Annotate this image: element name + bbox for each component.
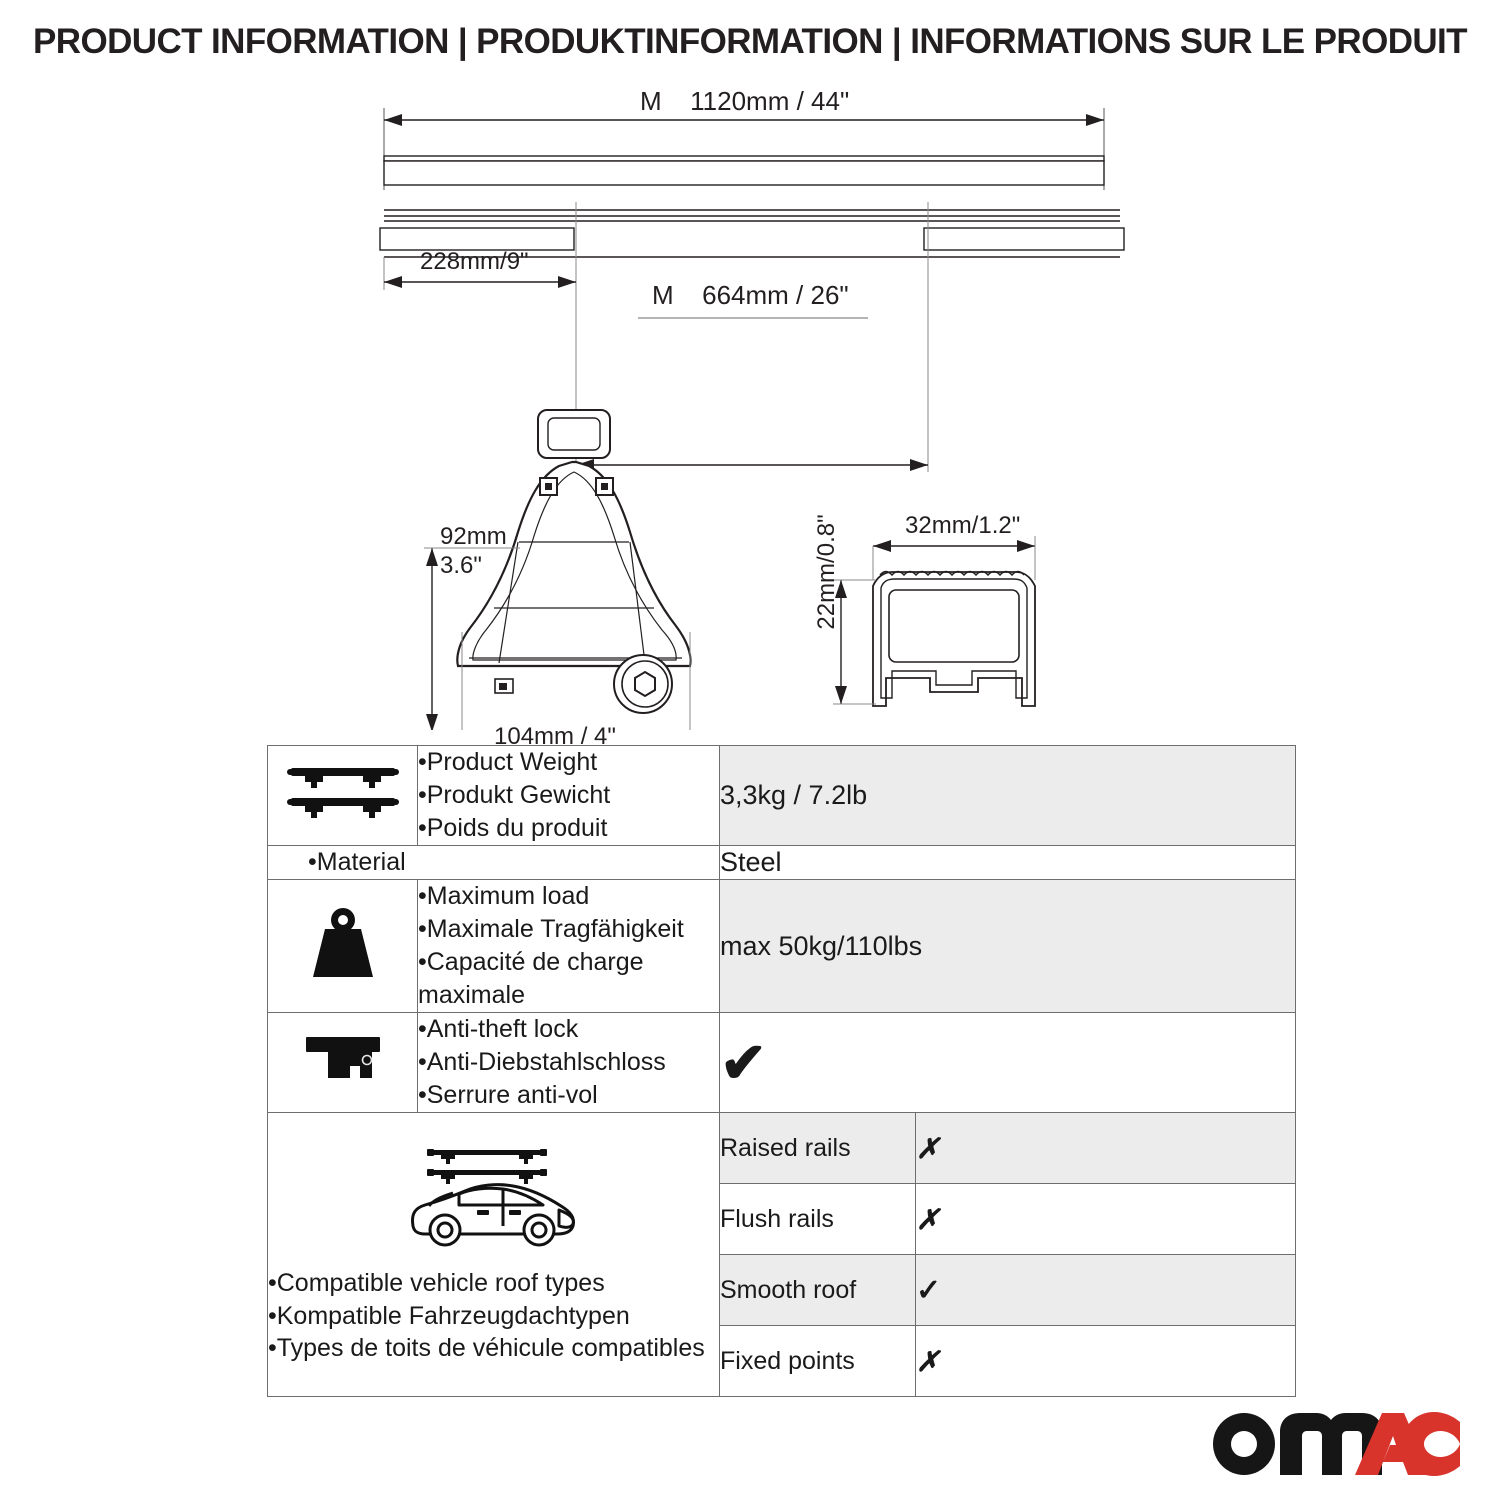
table-row: •Material Steel xyxy=(268,846,1296,880)
roof-bars-icon-cell xyxy=(268,746,418,846)
compatible-roof-types-labels: •Compatible vehicle roof types •Kompatib… xyxy=(268,1267,719,1365)
dimension-foot-height-mm: 92mm xyxy=(440,522,507,551)
dimension-foot-height: 92mm 3.6" xyxy=(440,522,507,581)
page-title: PRODUCT INFORMATION | PRODUKTINFORMATION… xyxy=(0,22,1500,62)
technical-drawing: M 1120mm / 44" 228mm/9" M 664mm / 26" 92… xyxy=(0,80,1500,730)
omac-logo xyxy=(1210,1410,1460,1478)
label-line-fr: •Serrure anti-vol xyxy=(418,1079,719,1112)
car-with-roof-bars-icon xyxy=(399,1144,589,1256)
dimension-value: 1120mm / 44" xyxy=(690,86,849,116)
anti-theft-lock-value: ✔ xyxy=(720,1013,1296,1113)
specifications-table: •Product Weight •Produkt Gewicht •Poids … xyxy=(267,745,1296,1397)
table-row: •Product Weight •Produkt Gewicht •Poids … xyxy=(268,746,1296,846)
label-line-de: •Maximale Tragfähigkeit xyxy=(418,913,719,946)
car-icon-wrap xyxy=(268,1144,719,1267)
lock-icon-cell xyxy=(268,1013,418,1113)
dimension-prefix-m: M xyxy=(640,86,662,116)
dimension-end-offset: 228mm/9" xyxy=(420,248,529,276)
roof-type-name-smooth-roof: Smooth roof xyxy=(720,1255,916,1326)
material-labels: •Material xyxy=(268,846,720,880)
label-line-de: •Kompatible Fahrzeugdachtypen xyxy=(268,1300,719,1333)
roof-bars-icon xyxy=(283,762,403,824)
lock-icon xyxy=(298,1029,388,1091)
table-row: •Anti-theft lock •Anti-Diebstahlschloss … xyxy=(268,1013,1296,1113)
label-line-fr: •Capacité de charge maximale xyxy=(418,946,719,1012)
label-line-de: •Produkt Gewicht xyxy=(418,779,719,812)
dimension-foot-height-in: 3.6" xyxy=(440,551,507,580)
label-line-en: •Compatible vehicle roof types xyxy=(268,1267,719,1300)
roof-type-mark-fixed-points: ✗ xyxy=(916,1326,1296,1397)
roof-type-name-fixed-points: Fixed points xyxy=(720,1326,916,1397)
dimension-bar-spacing: M 664mm / 26" xyxy=(652,280,849,311)
label-line-en: •Anti-theft lock xyxy=(418,1013,719,1046)
product-weight-labels: •Product Weight •Produkt Gewicht •Poids … xyxy=(418,746,720,846)
label-line-en: •Material xyxy=(308,846,719,879)
label-line-fr: •Types de toits de véhicule compatibles xyxy=(268,1332,719,1365)
maximum-load-labels: •Maximum load •Maximale Tragfähigkeit •C… xyxy=(418,880,720,1013)
table-row: •Maximum load •Maximale Tragfähigkeit •C… xyxy=(268,880,1296,1013)
weight-icon xyxy=(305,905,381,983)
omac-logo-svg xyxy=(1210,1410,1460,1478)
compatible-roof-types-cell: •Compatible vehicle roof types •Kompatib… xyxy=(268,1113,720,1397)
drawing-svg xyxy=(0,80,1500,730)
anti-theft-lock-labels: •Anti-theft lock •Anti-Diebstahlschloss … xyxy=(418,1013,720,1113)
maximum-load-value: max 50kg/110lbs xyxy=(720,880,1296,1013)
roof-type-mark-smooth-roof: ✓ xyxy=(916,1255,1296,1326)
dimension-value: 664mm / 26" xyxy=(702,280,849,310)
product-weight-value: 3,3kg / 7.2lb xyxy=(720,746,1296,846)
dimension-prefix-m: M xyxy=(652,280,674,310)
roof-type-mark-flush-rails: ✗ xyxy=(916,1184,1296,1255)
label-line-de: •Anti-Diebstahlschloss xyxy=(418,1046,719,1079)
roof-type-name-flush-rails: Flush rails xyxy=(720,1184,916,1255)
dimension-profile-height: 22mm/0.8" xyxy=(813,502,841,642)
label-line-en: •Maximum load xyxy=(418,880,719,913)
label-line-en: •Product Weight xyxy=(418,746,719,779)
roof-type-name-raised-rails: Raised rails xyxy=(720,1113,916,1184)
label-line-fr: •Poids du produit xyxy=(418,812,719,845)
weight-icon-cell xyxy=(268,880,418,1013)
dimension-bar-length: M 1120mm / 44" xyxy=(640,86,849,117)
dimension-profile-width: 32mm/1.2" xyxy=(905,512,1020,540)
material-value: Steel xyxy=(720,846,1296,880)
table-row: •Compatible vehicle roof types •Kompatib… xyxy=(268,1113,1296,1184)
roof-type-mark-raised-rails: ✗ xyxy=(916,1113,1296,1184)
